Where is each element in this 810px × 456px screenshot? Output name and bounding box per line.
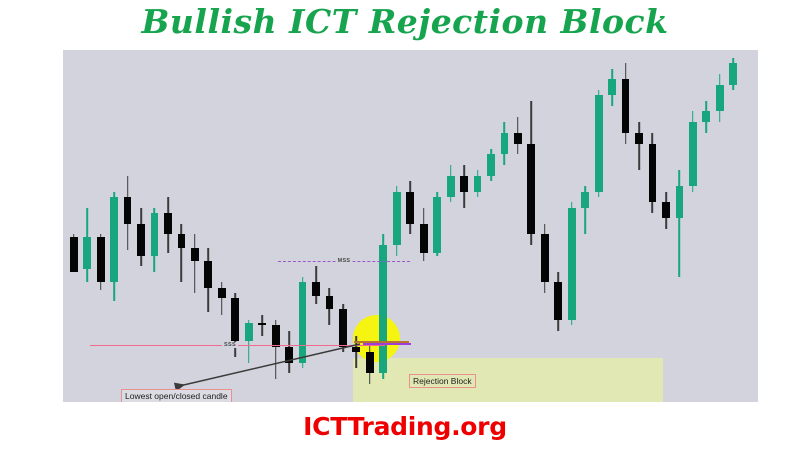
candle-44 [662,50,670,402]
candle-body [568,208,576,320]
candle-14 [258,50,266,402]
candle-body [204,261,212,288]
candle-body [608,79,616,95]
candle-body [352,347,360,352]
candle-body [406,192,414,224]
candle-41 [622,50,630,402]
candle-30 [474,50,482,402]
candle-body [70,237,78,272]
candle-15 [272,50,280,402]
lowest-candle-label: Lowest open/closed candle [121,389,232,402]
candle-16 [285,50,293,402]
candle-body [527,144,535,235]
candle-35 [541,50,549,402]
candle-1 [83,50,91,402]
candle-42 [635,50,643,402]
candle-23 [379,50,387,402]
candle-body [97,237,105,282]
candle-body [124,197,132,224]
candle-12 [231,50,239,402]
candle-body [272,325,280,346]
candle-48 [716,50,724,402]
candle-39 [595,50,603,402]
candle-26 [420,50,428,402]
candle-20 [339,50,347,402]
candle-37 [568,50,576,402]
sss-level-label: SSS [222,342,238,348]
candle-body [245,323,253,342]
candle-body [379,245,387,373]
candle-0 [70,50,78,402]
candle-body [554,282,562,319]
candle-28 [447,50,455,402]
candle-45 [676,50,684,402]
candle-body [191,248,199,261]
page-root: Bullish ICT Rejection Block SSS MSS [0,0,810,456]
candle-3 [110,50,118,402]
candle-body [178,234,186,247]
candle-body [433,197,441,253]
candle-5 [137,50,145,402]
candle-body [366,352,374,373]
candle-21 [352,50,360,402]
candle-34 [527,50,535,402]
mss-solid-line [363,343,411,345]
candle-body [581,192,589,208]
candle-body [676,186,684,218]
candle-body [460,176,468,192]
candle-body [474,176,482,192]
candle-body [729,63,737,84]
candle-31 [487,50,495,402]
candle-43 [649,50,657,402]
candle-4 [124,50,132,402]
candle-body [151,213,159,256]
candle-11 [218,50,226,402]
candle-36 [554,50,562,402]
candle-6 [151,50,159,402]
candle-wick [638,122,640,170]
candle-body [716,85,724,112]
candle-27 [433,50,441,402]
candle-body [487,154,495,175]
candle-wick [194,234,196,293]
candle-body [258,323,266,326]
candle-33 [514,50,522,402]
candle-body [285,347,293,363]
candle-body [501,133,509,154]
candle-7 [164,50,172,402]
candle-17 [299,50,307,402]
candle-body [662,202,670,218]
candle-8 [178,50,186,402]
candle-body [83,237,91,269]
candle-49 [729,50,737,402]
rejection-block-label: Rejection Block [409,374,476,388]
candlestick-chart[interactable]: SSS MSS Lowest open/closed candle Reject… [63,50,758,402]
candle-2 [97,50,105,402]
candle-body [514,133,522,144]
candle-body [420,224,428,253]
candle-29 [460,50,468,402]
candle-10 [204,50,212,402]
candle-body [622,79,630,132]
page-title: Bullish ICT Rejection Block [0,2,810,41]
candle-body [218,288,226,299]
candle-body [326,296,334,309]
candle-9 [191,50,199,402]
candle-body [312,282,320,295]
candle-body [635,133,643,144]
candle-body [689,122,697,186]
candle-24 [393,50,401,402]
candle-47 [702,50,710,402]
candle-body [541,234,549,282]
candle-46 [689,50,697,402]
candle-25 [406,50,414,402]
site-watermark: ICTTrading.org [0,412,810,441]
candle-wick [261,315,263,336]
candle-18 [312,50,320,402]
candle-body [702,111,710,122]
candle-32 [501,50,509,402]
candle-body [447,176,455,197]
candle-19 [326,50,334,402]
candle-40 [608,50,616,402]
candle-body [595,95,603,191]
mss-level-label: MSS [336,258,353,264]
candle-body [299,282,307,362]
candle-wick [181,224,183,283]
candle-body [231,298,239,341]
candle-body [339,309,347,346]
candle-13 [245,50,253,402]
candle-body [110,197,118,283]
candle-body [137,224,145,256]
candle-38 [581,50,589,402]
candle-body [393,192,401,245]
candle-body [164,213,172,234]
candle-body [649,144,657,203]
candle-22 [366,50,374,402]
